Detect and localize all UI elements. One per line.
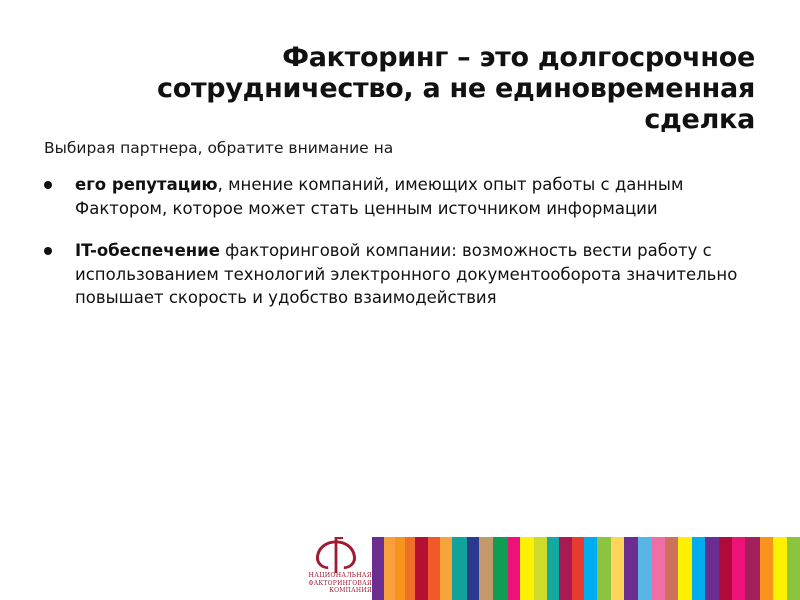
color-stripe [624, 537, 638, 600]
color-stripe [584, 537, 597, 600]
list-item: IT-обеспечение факторинговой компании: в… [44, 239, 760, 310]
color-stripe [678, 537, 691, 600]
slide-body: Выбирая партнера, обратите внимание на е… [44, 138, 760, 310]
color-stripe [415, 537, 427, 600]
color-stripe [479, 537, 493, 600]
color-stripe [384, 537, 394, 600]
color-stripe [405, 537, 415, 600]
color-stripe [705, 537, 718, 600]
color-stripe [372, 537, 384, 600]
slide-canvas: Факторинг – это долгосрочное сотрудничес… [0, 0, 800, 600]
color-stripe [428, 537, 440, 600]
color-stripe-band [372, 537, 800, 600]
color-stripe [652, 537, 665, 600]
color-stripe [572, 537, 584, 600]
color-stripe [665, 537, 678, 600]
bullet-dot-icon [44, 247, 52, 255]
slide-title: Факторинг – это долгосрочное сотрудничес… [40, 42, 755, 135]
color-stripe [611, 537, 624, 600]
color-stripe [467, 537, 479, 600]
color-stripe [440, 537, 452, 600]
color-stripe [745, 537, 759, 600]
company-logo: Национальная Факторинговая Компания [300, 536, 372, 598]
color-stripe [508, 537, 520, 600]
color-stripe [520, 537, 534, 600]
color-stripe [719, 537, 732, 600]
color-stripe [395, 537, 405, 600]
color-stripe [760, 537, 773, 600]
color-stripe [559, 537, 571, 600]
color-stripe [547, 537, 559, 600]
color-stripe [493, 537, 507, 600]
color-stripe [787, 537, 800, 600]
color-stripe [534, 537, 546, 600]
logo-wordmark: Национальная Факторинговая Компания [300, 572, 372, 595]
color-stripe [638, 537, 651, 600]
bullet-lead-text: IT-обеспечение [75, 241, 220, 260]
logo-wordmark-line-3: Компания [300, 587, 372, 595]
color-stripe [773, 537, 786, 600]
bullet-list: его репутацию, мнение компаний, имеющих … [44, 173, 760, 310]
color-stripe [732, 537, 745, 600]
list-item: его репутацию, мнение компаний, имеющих … [44, 173, 760, 220]
color-stripe [452, 537, 466, 600]
logo-wordmark-line-1: Национальная [300, 572, 372, 580]
color-stripe [597, 537, 610, 600]
bullet-lead-text: его репутацию [75, 175, 218, 194]
phi-monogram-icon [300, 536, 372, 574]
intro-text: Выбирая партнера, обратите внимание на [44, 138, 760, 159]
bullet-dot-icon [44, 181, 52, 189]
color-stripe [692, 537, 705, 600]
logo-wordmark-line-2: Факторинговая [300, 580, 372, 588]
